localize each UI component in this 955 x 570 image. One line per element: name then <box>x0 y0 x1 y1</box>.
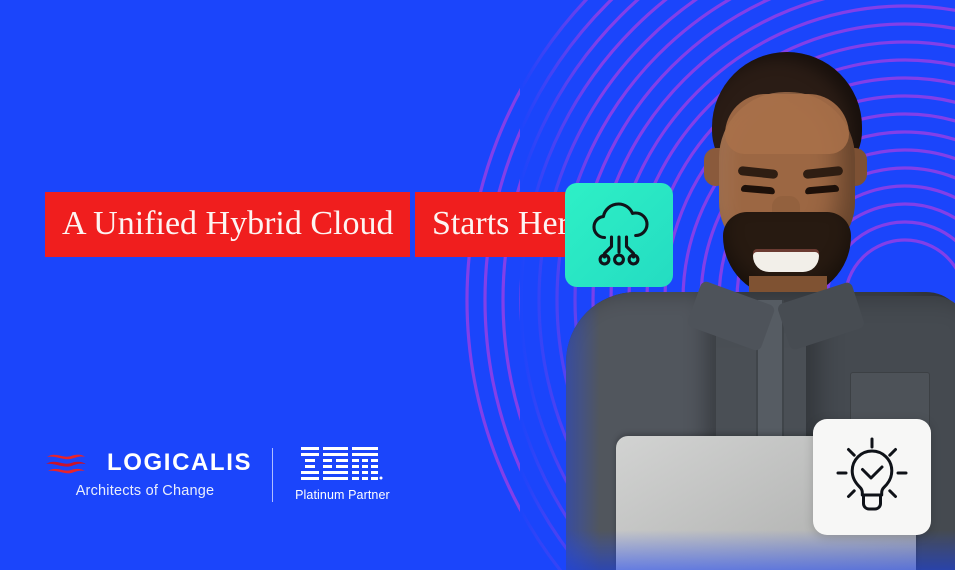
photo-bottom-fade <box>520 530 955 570</box>
logicalis-tagline: Architects of Change <box>47 483 243 499</box>
logicalis-wordmark: LOGICALIS <box>107 451 252 475</box>
ibm-logo: Platinum Partner <box>295 447 390 502</box>
lightbulb-tile <box>813 419 931 535</box>
lightbulb-check-icon <box>830 433 914 522</box>
logicalis-wave-icon <box>45 450 97 476</box>
ibm-wordmark-icon <box>301 447 383 480</box>
marketing-banner: A Unified Hybrid Cloud Starts Here <box>0 0 955 570</box>
headline: A Unified Hybrid Cloud Starts Here <box>45 183 601 257</box>
smile <box>753 252 819 272</box>
logo-lockup: LOGICALIS Architects of Change <box>45 447 390 502</box>
headline-line-1: A Unified Hybrid Cloud <box>45 192 410 257</box>
cloud-network-icon <box>581 197 657 274</box>
cloud-tile <box>565 183 673 287</box>
logicalis-logo: LOGICALIS Architects of Change <box>45 450 252 499</box>
logo-divider <box>272 448 273 502</box>
ibm-partner-tagline: Platinum Partner <box>295 488 390 502</box>
forehead <box>725 94 849 154</box>
